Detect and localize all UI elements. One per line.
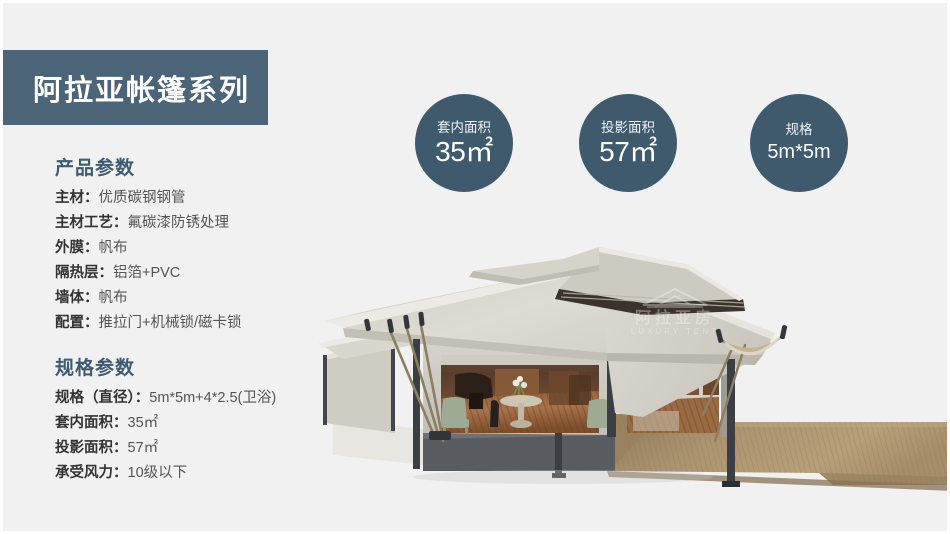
spec-row-outer-membrane: 外膜：帆布 <box>55 236 333 261</box>
spec-value: 57㎡ <box>128 440 159 456</box>
spec-value: 10级以下 <box>128 465 188 481</box>
spec-key: 主材： <box>55 190 99 206</box>
stat-number: 57 <box>599 136 629 167</box>
page-title: 阿拉亚帐篷系列 <box>33 67 250 109</box>
spec-key: 外膜： <box>55 240 99 256</box>
stat-circle-projected-area: 投影面积 57㎡ <box>579 94 677 192</box>
section-specification-parameters: 规格参数 规格（直径）：5m*5m+4*2.5(卫浴) 套内面积：35㎡ 投影面… <box>3 353 333 486</box>
spec-key: 投影面积： <box>55 440 128 456</box>
stat-unit: ㎡ <box>465 136 493 167</box>
spec-row-dimensions: 规格（直径）：5m*5m+4*2.5(卫浴) <box>55 386 333 411</box>
stat-unit: ㎡ <box>629 136 657 167</box>
section-title-specification: 规格参数 <box>55 353 333 380</box>
spec-key: 承受风力： <box>55 465 128 481</box>
spec-key: 墙体： <box>55 290 99 306</box>
stat-circle-indoor-area: 套内面积 35㎡ <box>415 94 513 192</box>
parameter-panel: 产品参数 主材：优质碳钢钢管 主材工艺：氟碳漆防锈处理 外膜：帆布 隔热层：铝箔… <box>3 153 333 486</box>
spec-row-wall: 墙体：帆布 <box>55 286 333 311</box>
slide-canvas: 阿拉亚房 LUXURY TENT 阿拉亚帐篷系列 产品参数 主材：优质碳钢钢管 … <box>0 0 950 534</box>
stat-circle-group: 套内面积 35㎡ 投影面积 57㎡ 规格 5m*5m <box>411 91 861 195</box>
spec-value: 帆布 <box>99 240 128 256</box>
stat-number: 5m*5m <box>767 141 830 163</box>
spec-value: 铝箔+PVC <box>113 265 180 281</box>
spec-key: 主材工艺： <box>55 215 128 231</box>
spec-value: 推拉门+机械锁/磁卡锁 <box>99 315 242 331</box>
spec-row-configuration: 配置：推拉门+机械锁/磁卡锁 <box>55 311 333 336</box>
stat-caption: 规格 <box>786 122 813 137</box>
spec-value: 氟碳漆防锈处理 <box>128 215 230 231</box>
stat-value: 35㎡ <box>435 137 493 167</box>
title-banner: 阿拉亚帐篷系列 <box>3 50 268 125</box>
spec-key: 隔热层： <box>55 265 113 281</box>
spec-row-indoor-area: 套内面积：35㎡ <box>55 411 333 436</box>
spec-row-insulation-layer: 隔热层：铝箔+PVC <box>55 261 333 286</box>
stat-caption: 套内面积 <box>437 120 491 135</box>
spec-row-wind-resistance: 承受风力：10级以下 <box>55 461 333 486</box>
spec-value: 优质碳钢钢管 <box>99 190 186 206</box>
spec-row-material-process: 主材工艺：氟碳漆防锈处理 <box>55 211 333 236</box>
spec-value: 5m*5m+4*2.5(卫浴) <box>149 390 276 406</box>
section-title-product: 产品参数 <box>55 153 333 180</box>
spec-row-projected-area: 投影面积：57㎡ <box>55 436 333 461</box>
section-product-parameters: 产品参数 主材：优质碳钢钢管 主材工艺：氟碳漆防锈处理 外膜：帆布 隔热层：铝箔… <box>3 153 333 336</box>
stat-circle-specification: 规格 5m*5m <box>750 94 848 192</box>
stat-number: 35 <box>435 136 465 167</box>
spec-key: 规格（直径）： <box>55 390 149 406</box>
spec-row-main-material: 主材：优质碳钢钢管 <box>55 186 333 211</box>
spec-key: 配置： <box>55 315 99 331</box>
stat-value: 5m*5m <box>767 139 830 165</box>
spec-key: 套内面积： <box>55 415 128 431</box>
stat-value: 57㎡ <box>599 137 657 167</box>
spec-value: 帆布 <box>99 290 128 306</box>
spec-value: 35㎡ <box>128 415 159 431</box>
stat-caption: 投影面积 <box>601 120 655 135</box>
